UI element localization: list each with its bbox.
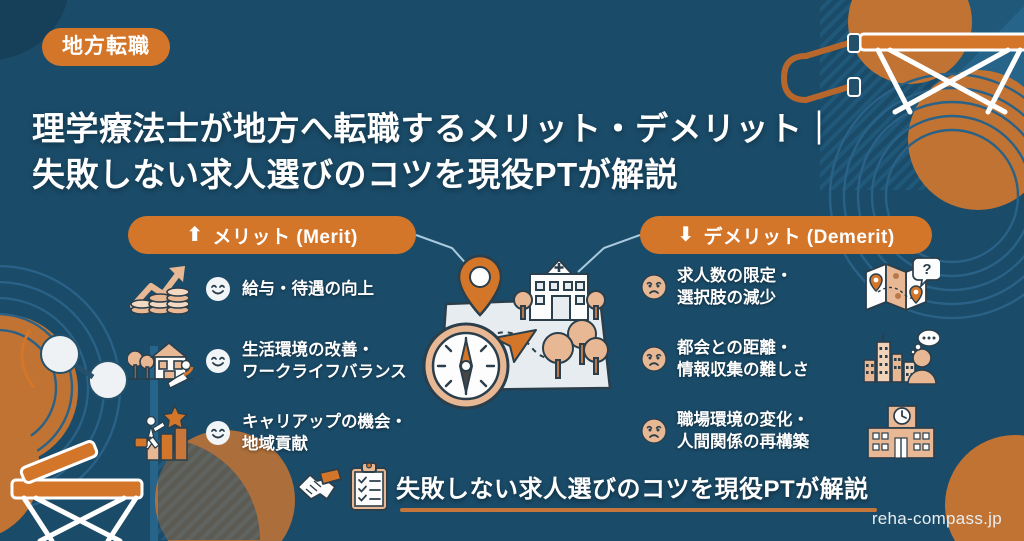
bottom-banner-label: 失敗しない求人選びのコツを現役PTが解説 <box>396 476 869 503</box>
house-park-icon <box>128 331 194 391</box>
arrow-down-icon: ⬇ <box>677 225 694 245</box>
demerit-header-label: デメリット (Demerit) <box>704 222 895 249</box>
list-item-line-1: キャリアップの機会・ <box>242 411 407 433</box>
worried-face-icon <box>640 418 668 444</box>
smiling-face-icon <box>204 276 232 302</box>
category-badge: 地方転職 <box>42 28 170 66</box>
list-item-line-2: 選択肢の減少 <box>677 287 853 309</box>
site-footer: reha-compass.jp <box>872 509 1002 529</box>
list-item-text: キャリアップの機会・ 地域貢献 <box>242 411 407 456</box>
worried-face-icon <box>640 346 668 372</box>
smiling-face-icon <box>204 420 232 446</box>
list-item-text: 求人数の限定・ 選択肢の減少 <box>677 265 853 310</box>
svg-text:?: ? <box>922 261 931 278</box>
clipboard-checklist-icon <box>348 462 390 517</box>
list-item: キャリアップの機会・ 地域貢献 <box>128 402 428 464</box>
map-compass-hospital-icon <box>418 238 628 438</box>
list-item-text: 職場環境の変化・ 人間関係の再構築 <box>677 409 853 454</box>
arrow-up-icon: ⬆ <box>186 225 203 245</box>
demerit-header-pill: ⬇ デメリット (Demerit) <box>640 216 932 254</box>
list-item-text: 都会との距離・ 情報収集の難しさ <box>677 337 853 382</box>
list-item-line-1: 生活環境の改善・ <box>242 339 407 361</box>
merit-header-label: メリット (Merit) <box>212 222 357 249</box>
coins-growth-icon <box>128 260 194 318</box>
smiling-face-icon <box>204 348 232 374</box>
list-item-line-1: 職場環境の変化・ <box>677 409 853 431</box>
list-item: 職場環境の変化・ 人間関係の再構築 <box>640 400 940 462</box>
list-item-line-1: 求人数の限定・ <box>677 265 853 287</box>
title-line-2: 失敗しない求人選びのコツを現役PTが解説 <box>32 152 962 198</box>
hospital-clock-icon <box>862 400 940 462</box>
career-step-icon <box>128 404 194 462</box>
list-item-text: 生活環境の改善・ ワークライフバランス <box>242 339 407 384</box>
bottom-banner-text: 失敗しない求人選びのコツを現役PTが解説 <box>396 469 869 510</box>
merit-header-pill: ⬆ メリット (Merit) <box>128 216 416 254</box>
city-person-thought-icon <box>862 328 940 390</box>
merit-list: 給与・待遇の向上 <box>128 258 428 474</box>
list-item: 都会との距離・ 情報収集の難しさ <box>640 328 940 390</box>
list-item-line-1: 給与・待遇の向上 <box>242 278 374 300</box>
list-item: 生活環境の改善・ ワークライフバランス <box>128 330 428 392</box>
bottom-underline <box>400 508 877 512</box>
list-item: 求人数の限定・ 選択肢の減少 <box>640 256 940 318</box>
list-item-line-2: 情報収集の難しさ <box>677 359 853 381</box>
folded-map-question-icon: ? <box>862 256 940 318</box>
handshake-icon <box>296 467 342 512</box>
list-item-text: 給与・待遇の向上 <box>242 278 374 300</box>
demerit-list: 求人数の限定・ 選択肢の減少 <box>640 256 940 472</box>
list-item: 給与・待遇の向上 <box>128 258 428 320</box>
list-item-line-1: 都会との距離・ <box>677 337 853 359</box>
title-line-1: 理学療法士が地方へ転職するメリット・デメリット｜ <box>32 106 962 152</box>
worried-face-icon <box>640 274 668 300</box>
list-item-line-2: 地域貢献 <box>242 433 407 455</box>
bottom-banner: 失敗しない求人選びのコツを現役PTが解説 <box>296 462 869 517</box>
list-item-line-2: 人間関係の再構築 <box>677 431 853 453</box>
infographic-canvas: 地方転職 理学療法士が地方へ転職するメリット・デメリット｜ 失敗しない求人選びの… <box>0 0 1024 541</box>
page-title: 理学療法士が地方へ転職するメリット・デメリット｜ 失敗しない求人選びのコツを現役… <box>32 106 962 197</box>
list-item-line-2: ワークライフバランス <box>242 361 407 383</box>
